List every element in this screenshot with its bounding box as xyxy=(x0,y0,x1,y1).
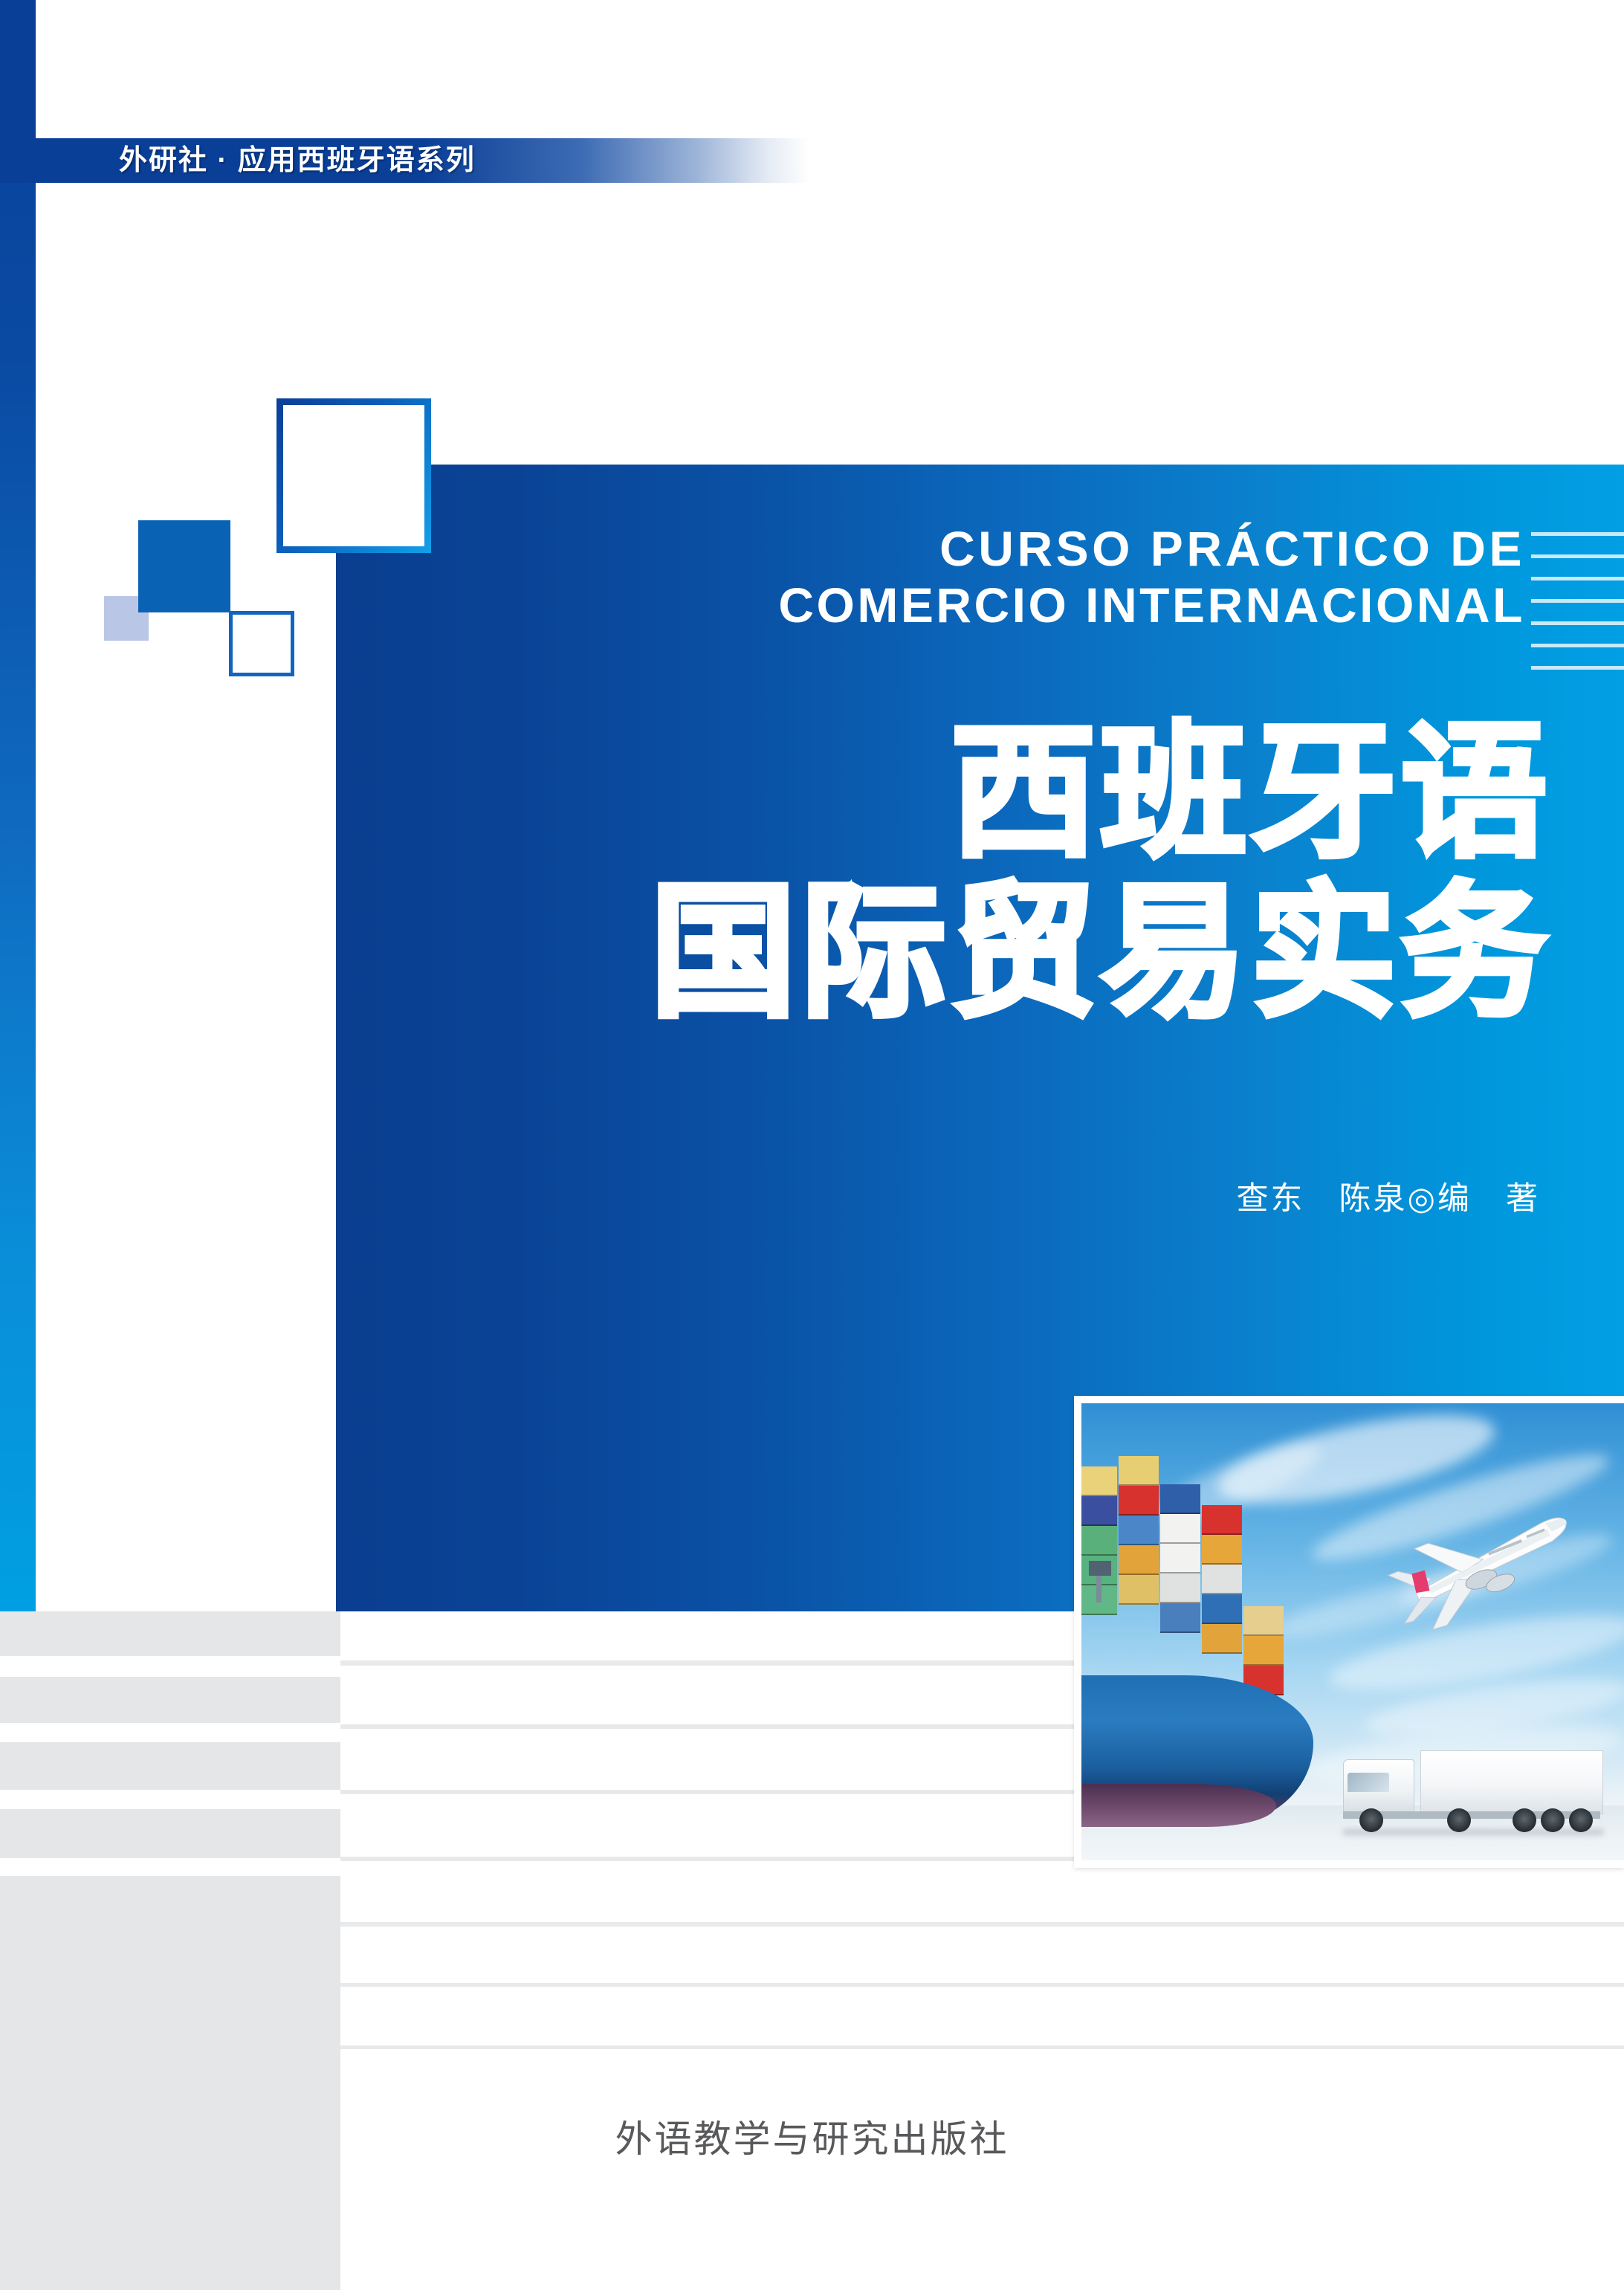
shipping-container xyxy=(1081,1496,1117,1526)
shipping-container xyxy=(1119,1456,1159,1486)
chinese-title: 西班牙语 国际贸易实务 xyxy=(336,714,1551,1033)
hatch-line xyxy=(1531,532,1624,536)
container-ship-icon xyxy=(1081,1446,1322,1848)
spanish-title: CURSO PRÁCTICO DE COMERCIO INTERNACIONAL xyxy=(336,520,1525,633)
series-label: 外研社 · 应用西班牙语系列 xyxy=(119,143,476,178)
grey-rule-right xyxy=(340,1922,1624,1927)
decorative-square-solid-medium xyxy=(138,520,230,612)
freight-truck-icon xyxy=(1343,1740,1603,1835)
shipping-container xyxy=(1202,1624,1242,1654)
shipping-container xyxy=(1119,1575,1159,1605)
shipping-container xyxy=(1243,1606,1284,1636)
hatch-line xyxy=(1531,599,1624,603)
shipping-container-column xyxy=(1119,1456,1159,1695)
grey-band-left xyxy=(0,1876,340,1925)
book-cover: 外研社 · 应用西班牙语系列 CURSO PRÁCTICO DE COMERCI… xyxy=(0,0,1624,2290)
chinese-title-line2: 国际贸易实务 xyxy=(336,873,1551,1033)
grey-band-left xyxy=(0,1809,340,1858)
left-spine-gradient-bar xyxy=(0,0,36,1611)
cover-photo xyxy=(1081,1403,1624,1860)
shipping-container-column xyxy=(1160,1484,1200,1695)
shipping-container xyxy=(1160,1484,1200,1514)
hatch-line xyxy=(1531,577,1624,580)
shipping-container xyxy=(1160,1603,1200,1633)
shipping-container xyxy=(1081,1466,1117,1496)
shipping-container xyxy=(1202,1535,1242,1565)
shipping-container xyxy=(1081,1526,1117,1556)
hatch-line xyxy=(1531,554,1624,558)
chinese-title-line1: 西班牙语 xyxy=(336,714,1551,873)
shipping-container-column xyxy=(1243,1606,1284,1695)
shipping-container xyxy=(1202,1505,1242,1535)
hatch-line xyxy=(1531,666,1624,670)
grey-band-left xyxy=(0,2001,340,2047)
shipping-container xyxy=(1119,1545,1159,1575)
grey-rule-right xyxy=(340,2045,1624,2049)
spanish-title-line2: COMERCIO INTERNACIONAL xyxy=(336,577,1525,633)
spanish-title-line1: CURSO PRÁCTICO DE xyxy=(336,520,1525,577)
cargo-airplane-icon xyxy=(1380,1491,1603,1632)
shipping-container xyxy=(1160,1573,1200,1603)
shipping-container xyxy=(1243,1636,1284,1666)
hatch-line xyxy=(1531,621,1624,625)
publisher-name: 外语教学与研究出版社 xyxy=(0,2109,1624,2163)
left-spine-top-bar xyxy=(0,0,36,140)
grey-band-left xyxy=(0,1611,340,1656)
hatch-lines-decoration xyxy=(1531,532,1624,670)
decorative-square-outline-small xyxy=(229,611,294,676)
shipping-container-column xyxy=(1202,1505,1242,1695)
grey-band-left xyxy=(0,1941,340,1983)
author-byline: 查东 陈泉◎编 著 xyxy=(336,1173,1540,1219)
hatch-line xyxy=(1531,644,1624,647)
shipping-container xyxy=(1119,1486,1159,1516)
cover-photo-frame xyxy=(1074,1396,1624,1868)
shipping-container xyxy=(1160,1544,1200,1573)
grey-band-left xyxy=(0,1742,340,1790)
shipping-container xyxy=(1119,1516,1159,1545)
grey-rule-right xyxy=(340,1983,1624,1987)
shipping-container xyxy=(1202,1565,1242,1594)
grey-band-left xyxy=(0,1677,340,1723)
shipping-container xyxy=(1202,1594,1242,1624)
shipping-container xyxy=(1160,1514,1200,1544)
